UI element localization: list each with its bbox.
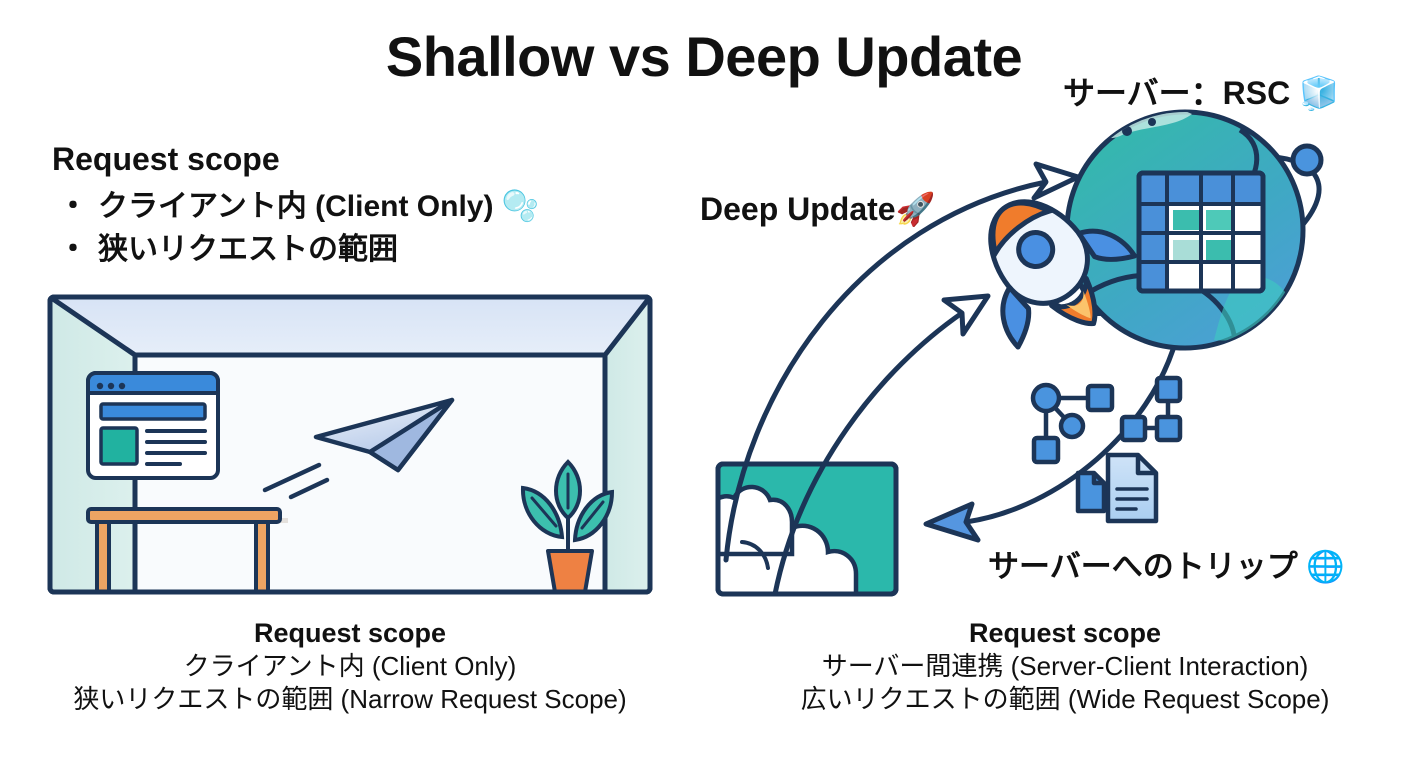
left-panel-caption: Request scope クライアント内 (Client Only) 狭いリク… — [20, 617, 680, 715]
plant-leaf-right — [575, 492, 612, 540]
document-large-fold — [1138, 455, 1156, 473]
potted-plant-icon — [523, 462, 612, 592]
globe-landmass-bottom — [1214, 277, 1288, 341]
cloud-front — [706, 514, 856, 606]
caption-title: Request scope — [740, 617, 1390, 650]
client-room-illustration — [50, 297, 650, 592]
list-item: ・クライアント内 (Client Only) 🫧 — [58, 186, 539, 229]
network-nodes-left — [1033, 385, 1112, 462]
arrow-inner-head — [944, 296, 988, 334]
desk-leg-right — [256, 522, 268, 592]
left-panel-heading: Request scope — [52, 141, 280, 178]
deep-update-text: Deep Update — [700, 191, 896, 227]
browser-dot-icon — [108, 383, 114, 389]
left-panel-bullet-list: ・クライアント内 (Client Only) 🫧 ・狭いリクエストの範囲 — [58, 186, 539, 271]
cloud-panel-border — [718, 464, 896, 594]
globe-meridian-right — [1229, 130, 1257, 246]
browser-image-block — [101, 428, 137, 464]
grid-cell-light — [1173, 240, 1199, 260]
grid-lines — [1141, 175, 1262, 290]
network-edges — [1046, 398, 1100, 448]
room-ceiling — [50, 297, 650, 355]
grid-header-col — [1141, 175, 1167, 289]
document-icon-small — [1078, 473, 1104, 511]
room-back-wall — [135, 355, 605, 592]
browser-dot-icon — [119, 383, 125, 389]
document-icon-large — [1108, 455, 1156, 521]
network-node-square — [1157, 378, 1180, 401]
paper-airplane-icon — [265, 400, 452, 497]
document-small-fold — [1094, 473, 1104, 483]
rocket-fin-left — [986, 286, 1043, 347]
plant-leaf-top — [556, 462, 580, 518]
bullet-dot-icon: ・ — [58, 190, 88, 223]
rocket-emoji: 🚀 — [896, 190, 936, 228]
network-node-square — [1122, 417, 1145, 440]
desk — [88, 509, 288, 592]
orbit-ring — [1020, 124, 1339, 346]
room-right-wall — [605, 297, 650, 592]
deep-update-arrow-inner — [775, 296, 988, 594]
ice-cube-emoji: 🧊 — [1299, 74, 1339, 112]
document-small-body — [1078, 473, 1104, 511]
cloud-detail-line — [742, 542, 768, 568]
rocket-fin-right — [1077, 215, 1134, 276]
globe-emoji: 🌐 — [1306, 549, 1345, 585]
plane-wing — [370, 400, 452, 470]
room-ceiling-edges — [50, 297, 650, 355]
list-item: ・狭いリクエストの範囲 — [58, 229, 539, 272]
grid-cell-teal — [1173, 210, 1199, 230]
return-arrow-head — [926, 504, 978, 540]
network-node-circle — [1033, 385, 1059, 411]
grid-cell-teal — [1206, 240, 1232, 260]
data-grid-overlay — [1139, 173, 1263, 291]
room-left-wall — [50, 297, 135, 592]
plane-fold — [370, 400, 452, 452]
orbit-ellipse — [1020, 124, 1339, 346]
document-large-lines — [1117, 489, 1147, 509]
arrow-outer-head — [1034, 164, 1078, 198]
browser-window-mockup — [88, 373, 218, 478]
rocket-window — [1012, 226, 1060, 274]
return-arrow-path — [966, 340, 1176, 522]
cloud-back — [702, 487, 792, 554]
rocket-body — [969, 181, 1105, 320]
grid-border — [1139, 173, 1263, 291]
browser-text-lines — [147, 431, 205, 464]
room-border — [50, 297, 650, 592]
browser-title-bar — [88, 373, 218, 393]
bubbles-emoji: 🫧 — [502, 189, 539, 224]
browser-frame — [88, 373, 218, 478]
caption-line-1: サーバー間連携 (Server-Client Interaction) — [740, 650, 1390, 682]
plant-leaf-veins — [532, 474, 603, 528]
document-large-body — [1108, 455, 1156, 521]
server-rsc-text: サーバー：RSC — [1063, 75, 1290, 111]
cloud-panel-background — [718, 464, 896, 594]
rocket-icon — [945, 163, 1152, 369]
network-edges — [1144, 400, 1168, 428]
rocket-flame — [1052, 278, 1111, 337]
globe-icon — [1067, 104, 1303, 348]
globe-detail-dot — [1122, 126, 1132, 136]
server-return-arrow — [926, 340, 1176, 540]
server-rsc-label: サーバー：RSC 🧊 — [1063, 68, 1339, 114]
plane-motion-lines — [265, 465, 327, 497]
globe-continents — [1078, 104, 1288, 348]
bullet-text: クライアント内 (Client Only) — [98, 190, 493, 223]
caption-title: Request scope — [20, 617, 680, 650]
grid-cell-teal — [1206, 210, 1232, 230]
browser-banner — [101, 404, 205, 419]
grid-header-row — [1141, 175, 1261, 203]
right-panel-caption: Request scope サーバー間連携 (Server-Client Int… — [740, 617, 1390, 715]
network-nodes-right — [1122, 378, 1180, 440]
slide-canvas: Shallow vs Deep Update Request scope ・クラ… — [0, 0, 1408, 768]
globe-detail-dot — [1148, 118, 1156, 126]
arrow-inner-path — [775, 313, 962, 594]
rocket-nose — [977, 188, 1049, 254]
cloud-shapes — [702, 487, 856, 606]
grid-frame — [1139, 173, 1263, 291]
plant-pot — [548, 551, 592, 592]
server-globe-illustration — [702, 104, 1340, 606]
rocket-flame-inner — [1066, 291, 1099, 325]
arrow-outer-path — [726, 182, 1046, 560]
caption-line-1: クライアント内 (Client Only) — [20, 650, 680, 682]
orbit-node-icon — [1293, 146, 1321, 174]
desk-top — [88, 509, 280, 522]
plant-leaf-left — [523, 488, 562, 537]
bullet-dot-icon: ・ — [58, 233, 88, 266]
network-node-square — [1088, 386, 1112, 410]
globe-sphere — [1067, 112, 1303, 348]
bullet-text: 狭いリクエストの範囲 — [98, 233, 398, 266]
server-trip-label: サーバーへのトリップ 🌐 — [988, 541, 1345, 586]
server-trip-text: サーバーへのトリップ — [988, 549, 1298, 584]
desk-shadow — [120, 518, 288, 523]
plane-body — [316, 400, 452, 470]
network-node-square — [1157, 417, 1180, 440]
globe-meridian-bottom — [1078, 275, 1235, 348]
caption-line-2: 広いリクエストの範囲 (Wide Request Scope) — [740, 683, 1390, 715]
network-node-square — [1034, 438, 1058, 462]
deep-update-label: Deep Update🚀 — [700, 190, 935, 228]
browser-dot-icon — [97, 383, 103, 389]
room-outline — [50, 297, 650, 592]
cloud-panel — [702, 464, 896, 606]
network-node-circle — [1061, 415, 1083, 437]
desk-leg-left — [97, 522, 109, 592]
caption-line-2: 狭いリクエストの範囲 (Narrow Request Scope) — [20, 683, 680, 715]
